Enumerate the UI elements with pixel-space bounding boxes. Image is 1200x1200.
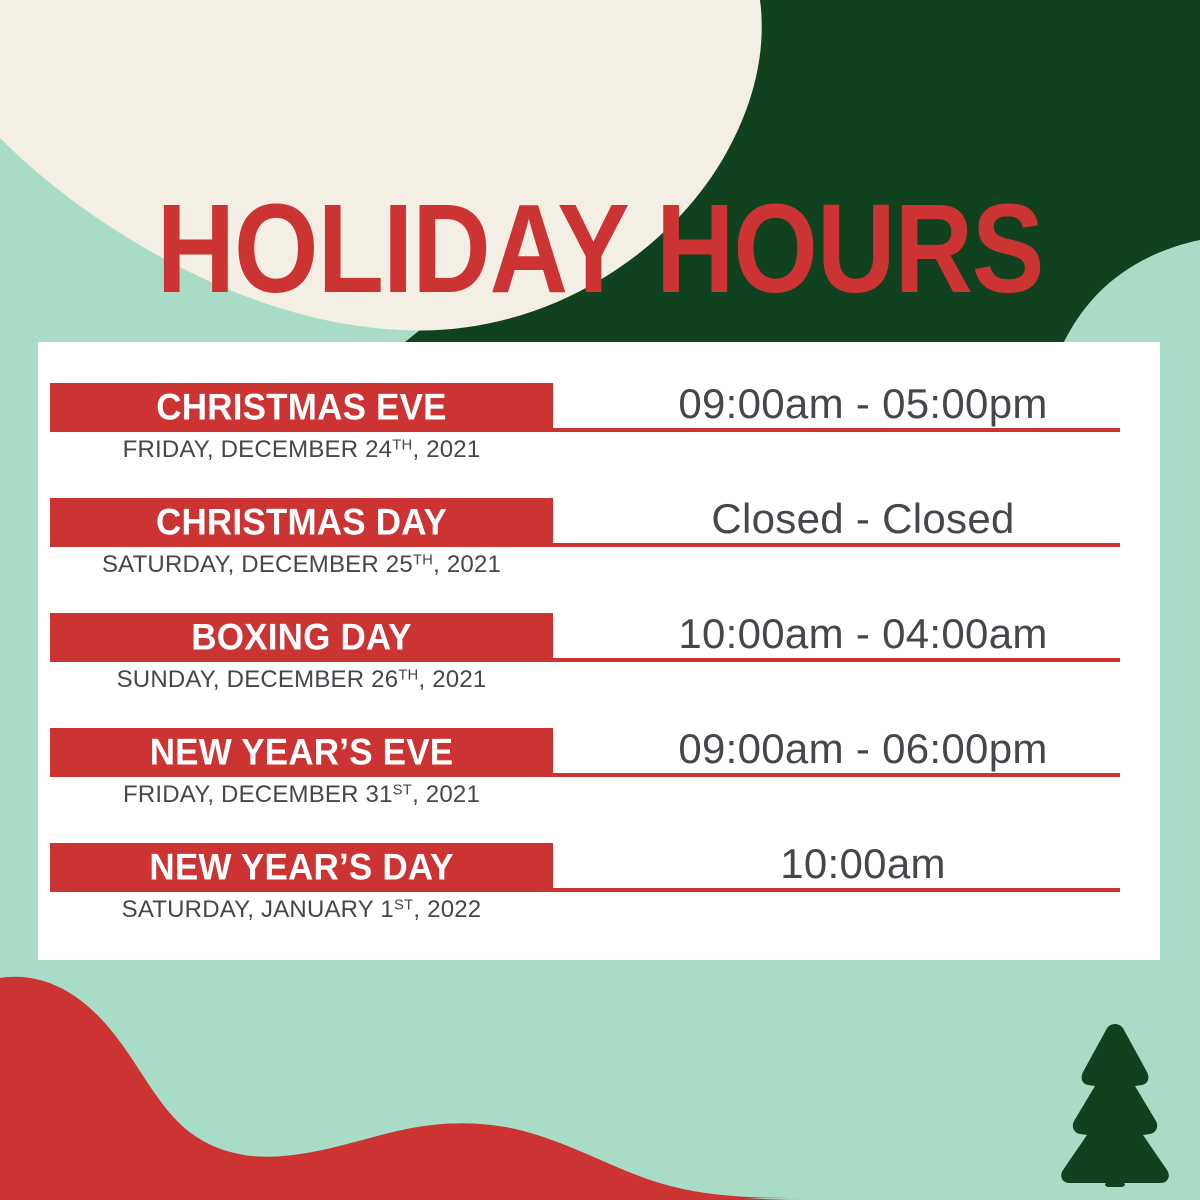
schedule-row: NEW YEAR’S EVEFRIDAY, DECEMBER 31ST, 202… — [38, 687, 1160, 802]
date-ordinal: ST — [393, 782, 412, 798]
holiday-name: NEW YEAR’S DAY — [149, 846, 453, 888]
holiday-label-bar: NEW YEAR’S EVE — [50, 728, 553, 777]
holiday-hours: 09:00am - 05:00pm — [598, 380, 1128, 428]
red-wave — [0, 977, 812, 1200]
holiday-label-bar: CHRISTMAS EVE — [50, 383, 553, 432]
schedule-row: CHRISTMAS DAYSATURDAY, DECEMBER 25TH, 20… — [38, 457, 1160, 572]
schedule-row: CHRISTMAS EVEFRIDAY, DECEMBER 24TH, 2021… — [38, 342, 1160, 457]
row-underline — [553, 658, 1120, 662]
row-underline — [553, 888, 1120, 892]
row-underline — [553, 543, 1120, 547]
row-underline — [553, 428, 1120, 432]
holiday-hours: Closed - Closed — [598, 495, 1128, 543]
holiday-label-bar: CHRISTMAS DAY — [50, 498, 553, 547]
date-ordinal: TH — [398, 667, 418, 683]
top-cut-text: HOLIDAY — [55, 0, 148, 4]
holiday-label-bar: BOXING DAY — [50, 613, 553, 662]
christmas-tree-icon — [1055, 1022, 1175, 1187]
page-title: HOLIDAY HOURS — [18, 186, 1182, 313]
schedule-card: CHRISTMAS EVEFRIDAY, DECEMBER 24TH, 2021… — [38, 342, 1160, 960]
date-ordinal: ST — [394, 897, 413, 913]
date-ordinal: TH — [392, 437, 412, 453]
holiday-date: SATURDAY, JANUARY 1ST, 2022 — [50, 896, 553, 924]
holiday-name: CHRISTMAS EVE — [156, 386, 446, 428]
date-main: SATURDAY, JANUARY 1 — [122, 896, 394, 923]
red-wave-fill — [0, 977, 812, 1200]
holiday-label-bar: NEW YEAR’S DAY — [50, 843, 553, 892]
holiday-hours-poster: HOLIDAY HOLIDAY HOURS CHRISTMAS EVEFRIDA… — [0, 0, 1200, 1200]
holiday-name: BOXING DAY — [191, 616, 411, 658]
schedule-rows: CHRISTMAS EVEFRIDAY, DECEMBER 24TH, 2021… — [38, 342, 1160, 917]
schedule-row: BOXING DAYSUNDAY, DECEMBER 26TH, 202110:… — [38, 572, 1160, 687]
row-underline — [553, 773, 1120, 777]
date-ordinal: TH — [413, 552, 433, 568]
schedule-row: NEW YEAR’S DAYSATURDAY, JANUARY 1ST, 202… — [38, 802, 1160, 917]
holiday-hours: 10:00am — [598, 840, 1128, 888]
holiday-hours: 10:00am - 04:00am — [598, 610, 1128, 658]
holiday-name: CHRISTMAS DAY — [156, 501, 447, 543]
holiday-hours: 09:00am - 06:00pm — [598, 725, 1128, 773]
date-year: , 2022 — [413, 896, 481, 923]
holiday-name: NEW YEAR’S EVE — [150, 731, 454, 773]
